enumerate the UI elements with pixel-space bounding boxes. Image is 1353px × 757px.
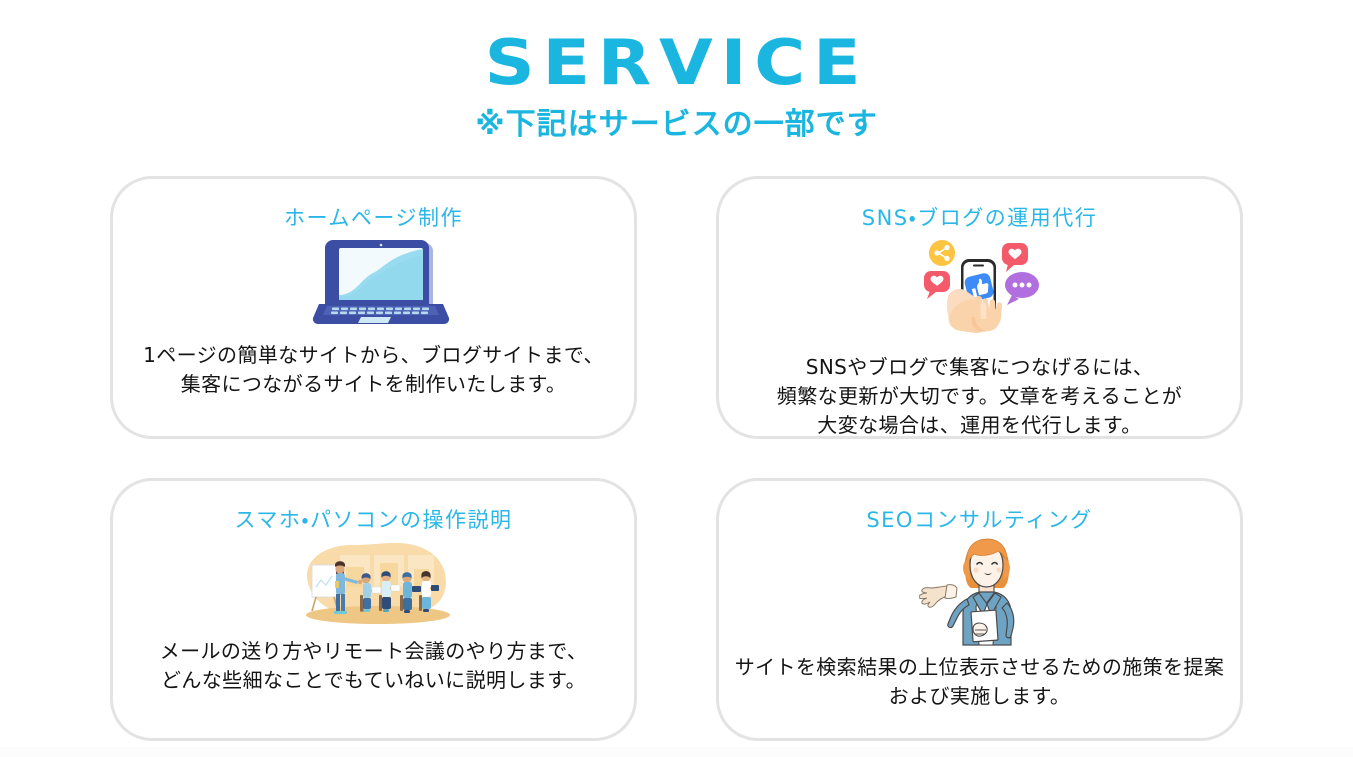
service-card-title: ホームページ制作 [284,179,463,231]
comment-icon [1005,272,1039,305]
heart-icon [1002,243,1028,272]
heart-icon [924,271,950,299]
service-section: SERVICE ※下記はサービスの一部です ホームページ制作 [0,0,1353,757]
service-card-description: サイトを検索結果の上位表示させるための施策を提案 および実施します。 [725,653,1235,711]
service-card-title: SNS・ブログの運用代行 [862,179,1098,231]
footer-band [0,747,1353,757]
page-title: SERVICE [0,0,1353,95]
service-card-description: メールの送り方やリモート会議のやり方まで、 どんな些細なことでもていねいに説明し… [150,637,598,695]
service-card-grid: ホームページ制作 [110,176,1243,741]
service-card-title: SEOコンサルティング [866,481,1092,533]
seminar-classroom-icon [290,537,458,629]
service-card-sns[interactable]: SNS・ブログの運用代行 [716,176,1243,439]
service-card-device-support[interactable]: スマホ・パソコンの操作説明 [110,478,637,741]
service-card-homepage[interactable]: ホームページ制作 [110,176,637,439]
page-subtitle: ※下記はサービスの一部です [0,95,1353,141]
service-card-seo[interactable]: SEOコンサルティング [716,478,1243,741]
service-card-description: SNSやブログで集客につなげるには、 頻繁な更新が大切です。文章を考えることが … [767,353,1192,439]
service-card-title: スマホ・パソコンの操作説明 [234,481,512,533]
share-icon [929,240,955,266]
section-header: SERVICE ※下記はサービスの一部です [0,0,1353,141]
service-card-description: 1ページの簡単なサイトから、ブログサイトまで、 集客につながるサイトを制作いたし… [133,341,614,399]
hand-phone-social-icon [916,235,1044,347]
consultant-woman-icon [919,537,1041,647]
laptop-icon [299,235,449,331]
